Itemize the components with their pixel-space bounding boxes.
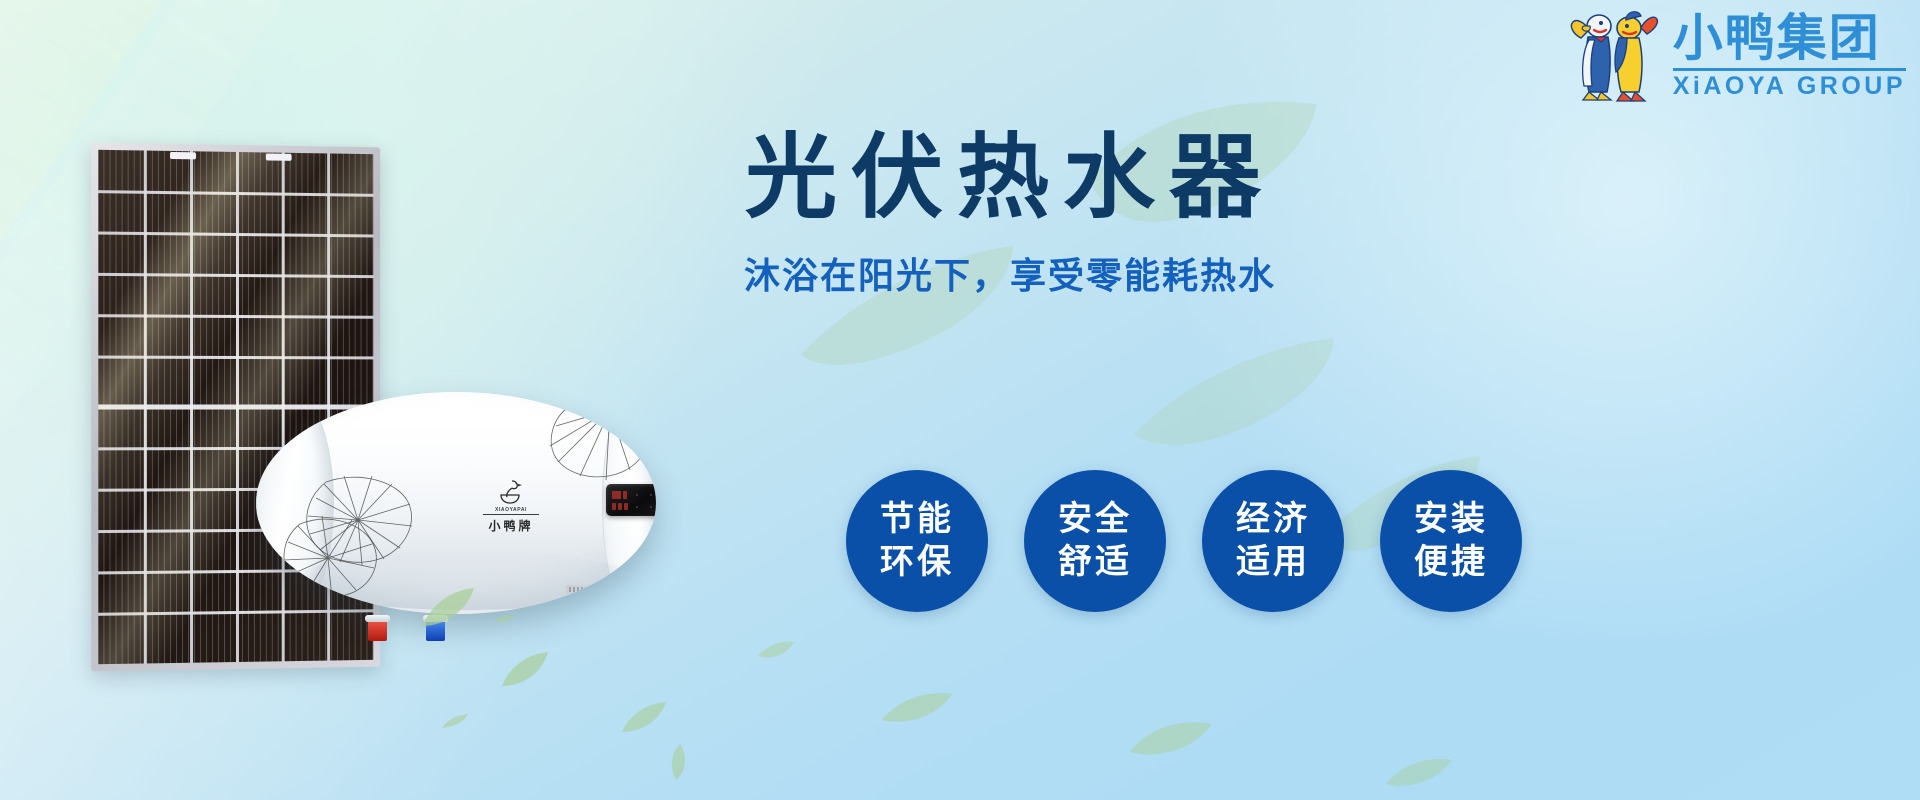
heater-rating-label (566, 585, 640, 594)
badge-line-1: 经济 (1236, 498, 1310, 541)
heater-brand-mark: XIAOYAPAI 小鸭牌 (478, 478, 544, 534)
badge-line-1: 安装 (1414, 498, 1488, 541)
feature-badge-energy-saving[interactable]: 节能 环保 (846, 470, 988, 612)
feature-badge-safety[interactable]: 安全 舒适 (1024, 470, 1166, 612)
headline-block: 光伏热水器 沐浴在阳光下，享受零能耗热水 (690, 128, 1330, 299)
duck-mascot-icon (1567, 4, 1663, 108)
leaf-decor-icon (880, 690, 954, 726)
page-title: 光伏热水器 (690, 128, 1330, 227)
water-heater-product-image: XIAOYAPAI 小鸭牌 (228, 392, 678, 627)
heater-brand-cn: 小鸭牌 (478, 517, 544, 534)
badge-line-2: 舒适 (1058, 541, 1132, 584)
heater-brand-en: XIAOYAPAI (478, 507, 544, 513)
sun-ray-decor (0, 0, 67, 800)
feature-badge-installation[interactable]: 安装 便捷 (1380, 470, 1522, 612)
leaf-decor-icon (756, 640, 796, 660)
heater-hot-water-pipe (368, 619, 387, 641)
logo-text-group: 小鸭集团 XiAOYA GROUP (1673, 13, 1906, 99)
feature-badge-economy[interactable]: 经济 适用 (1202, 470, 1344, 612)
leaf-decor-icon (440, 710, 470, 734)
leaf-decor-icon (1128, 718, 1214, 758)
heater-cold-water-pipe (426, 619, 445, 641)
logo-name-en: XiAOYA GROUP (1673, 74, 1906, 99)
leaf-decor-icon (1384, 756, 1454, 790)
logo-name-cn: 小鸭集团 (1673, 13, 1881, 63)
heater-tank-body: XIAOYAPAI 小鸭牌 (256, 392, 656, 614)
badge-line-2: 便捷 (1414, 541, 1488, 584)
lotus-decor-icon (544, 396, 656, 492)
lotus-decor-icon (276, 510, 386, 614)
leaf-decor-icon (666, 742, 692, 782)
feature-badge-group: 节能 环保 安全 舒适 经济 适用 安装 便捷 (846, 470, 1522, 612)
duck-brand-icon (498, 478, 524, 506)
heater-brand-divider (483, 514, 539, 515)
leaf-decor-icon (620, 700, 668, 738)
promotional-banner: 小鸭集团 XiAOYA GROUP (0, 0, 1920, 800)
heater-display-panel[interactable] (606, 484, 656, 516)
badge-line-2: 环保 (880, 541, 954, 584)
leaf-decor-icon (500, 650, 550, 692)
page-subtitle: 沐浴在阳光下，享受零能耗热水 (690, 255, 1330, 298)
badge-line-1: 安全 (1058, 498, 1132, 541)
badge-line-2: 适用 (1236, 541, 1310, 584)
watercolor-blob-decor (1130, 330, 1340, 450)
brand-logo[interactable]: 小鸭集团 XiAOYA GROUP (1567, 4, 1906, 108)
logo-divider (1673, 68, 1906, 71)
badge-line-1: 节能 (880, 498, 954, 541)
